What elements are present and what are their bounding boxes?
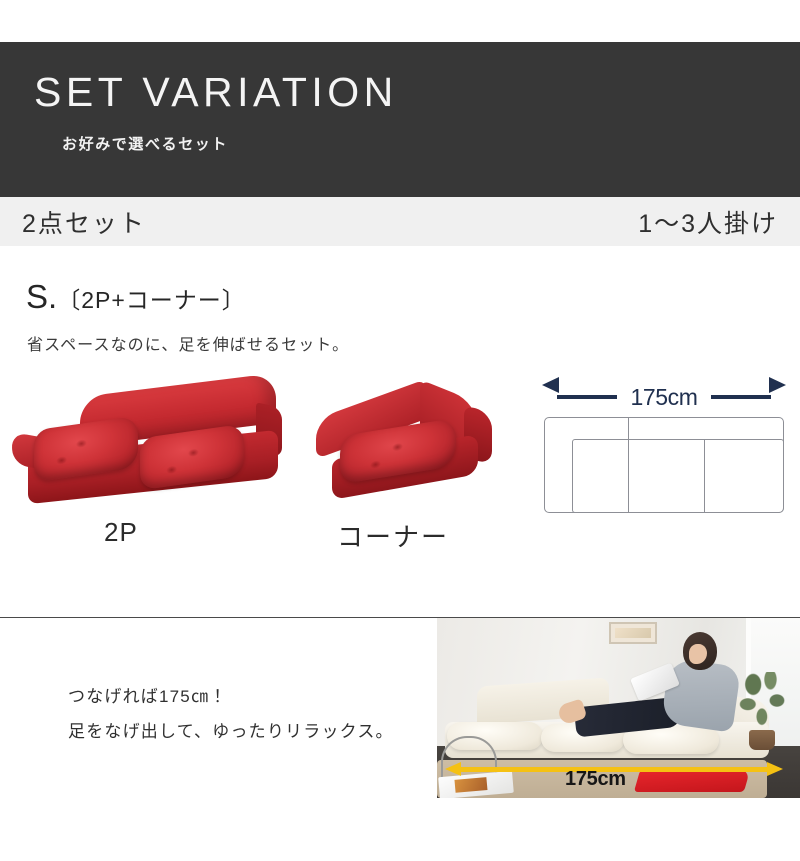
sofa-top-view-plan <box>544 417 784 513</box>
set-count-label: 2点セット <box>22 204 146 240</box>
seating-capacity-label: 1〜3人掛け <box>638 204 778 240</box>
product-page: SET VARIATION お好みで選べるセット 2点セット 1〜3人掛け S.… <box>0 0 800 861</box>
sofa-2p-image <box>12 383 284 503</box>
page-subtitle: お好みで選べるセット <box>62 133 228 154</box>
sofa-2p-label: 2P <box>104 517 138 548</box>
tuft-dot <box>56 456 67 466</box>
tuft-dot <box>188 448 199 458</box>
plan-divider-1 <box>628 417 629 513</box>
tuft-dot <box>370 460 381 470</box>
tuft-dot <box>392 442 403 452</box>
product-title: S.〔2P+コーナー〕 <box>26 280 800 314</box>
dimension-label: 175cm <box>628 383 699 411</box>
arrow-head-left-icon <box>542 377 559 393</box>
photo-measure-label: 175cm <box>565 768 626 791</box>
arrow-head-right-icon <box>767 762 783 776</box>
plan-divider-2 <box>704 439 705 513</box>
product-code: S. <box>26 278 57 315</box>
photo-wall-art <box>609 622 657 644</box>
plan-inner-outline <box>572 439 784 513</box>
set-info-strip: 2点セット 1〜3人掛け <box>0 197 800 246</box>
sofa-corner-image <box>312 385 498 503</box>
product-combination: 〔2P+コーナー〕 <box>57 287 246 313</box>
photo-plant-pot <box>749 730 775 750</box>
product-description: 省スペースなのに、足を伸ばせるセット。 <box>27 331 800 355</box>
arrow-line-left <box>557 395 617 399</box>
tuft-dot <box>166 465 177 475</box>
bottom-copy-line-1: つなげれば175㎝！ <box>68 687 227 706</box>
product-section: S.〔2P+コーナー〕 省スペースなのに、足を伸ばせるセット。 2P <box>0 246 800 587</box>
hero-banner: SET VARIATION お好みで選べるセット <box>0 42 800 197</box>
tuft-dot <box>76 439 87 449</box>
arrow-line-right <box>711 395 771 399</box>
width-arrow-icon: 175cm <box>542 383 786 411</box>
variation-row: 2P コーナー 175cm <box>0 377 800 587</box>
dimension-diagram: 175cm <box>540 381 792 516</box>
sofa-corner-label: コーナー <box>337 517 449 554</box>
photo-plant-leaves <box>737 672 791 734</box>
arrow-head-right-icon <box>769 377 786 393</box>
bottom-copy-line-2: 足をなげ出して、ゆったりリラックス。 <box>68 715 394 750</box>
top-whitespace <box>0 0 800 42</box>
bottom-copy: つなげれば175㎝！ 足をなげ出して、ゆったりリラックス。 <box>68 680 394 750</box>
page-title: SET VARIATION <box>34 72 398 113</box>
lifestyle-photo: 175cm <box>437 618 800 798</box>
